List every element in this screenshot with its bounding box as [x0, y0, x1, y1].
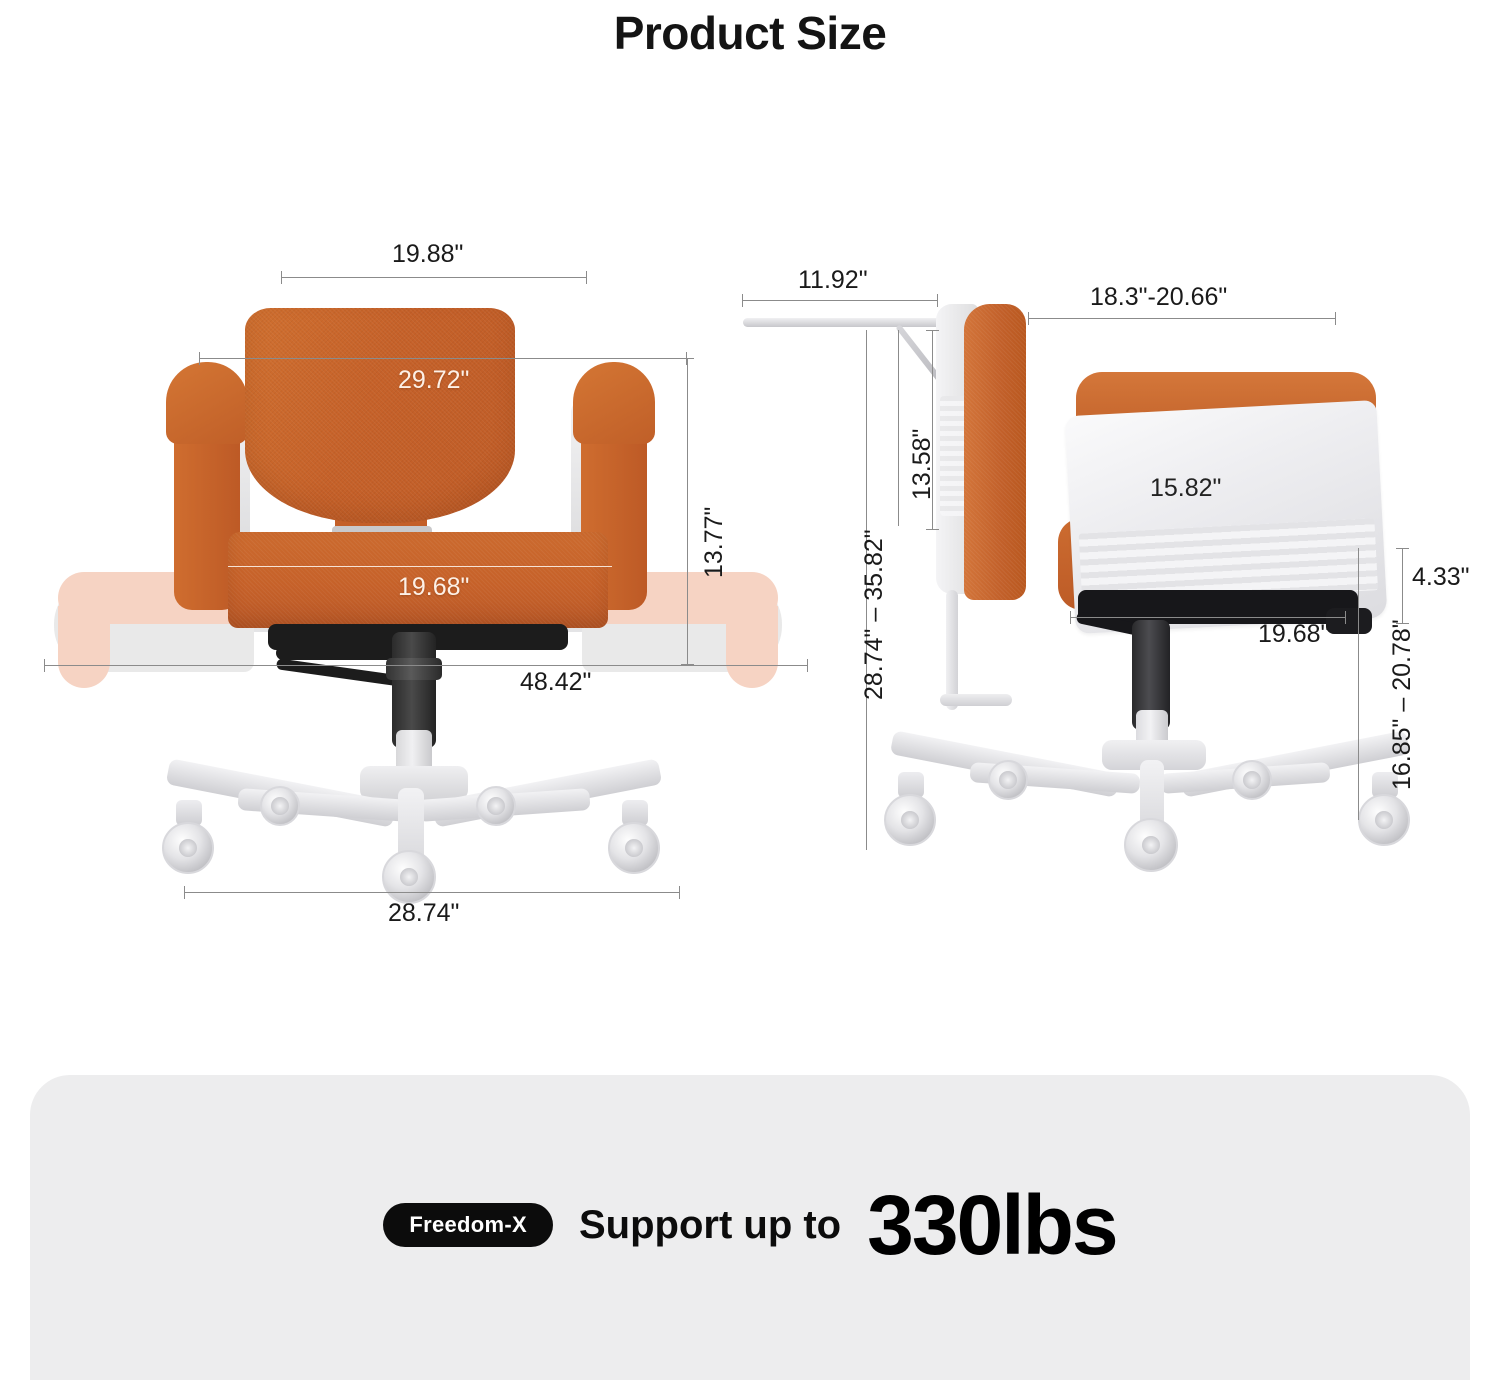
dim-label-seat-width: 19.68"	[398, 573, 469, 602]
dim-line-seat-height	[1358, 548, 1359, 820]
backrest-post-foot	[940, 694, 1012, 706]
dim-label-backrest-height: 13.77"	[700, 507, 729, 578]
capacity-banner-row: Freedom-X Support up to 330lbs	[30, 1183, 1470, 1267]
dim-line-overall-width	[199, 358, 687, 359]
backrest-cushion-side	[964, 304, 1026, 600]
caster-center-front	[382, 850, 436, 904]
dim-line-backrest-height-side-ref	[898, 330, 899, 526]
diagram-stage: 19.88" 29.72" 19.68" 48.42" 28.74" 13.77…	[0, 0, 1500, 1060]
tension-knob	[1326, 608, 1372, 634]
dim-label-armrest-depth: 15.82"	[1150, 474, 1221, 503]
dim-label-overall-height: 28.74" – 35.82"	[860, 529, 889, 700]
dim-label-tray-depth: 11.92"	[798, 266, 868, 295]
armrest-pad-left	[166, 362, 248, 444]
dim-label-backrest-height-side: 13.58"	[908, 429, 937, 500]
dim-line-backrest-height	[687, 358, 688, 665]
headrest-tray-arm	[743, 318, 948, 327]
dim-label-backrest-width: 19.88"	[392, 240, 463, 269]
dim-line-seat-depth-range	[1028, 318, 1336, 319]
dim-label-overall-width: 29.72"	[398, 366, 469, 395]
dim-label-base-width: 28.74"	[388, 899, 459, 928]
capacity-banner: Freedom-X Support up to 330lbs	[30, 1075, 1470, 1380]
dim-line-base-width	[184, 892, 680, 893]
caster-far-right	[608, 822, 660, 874]
height-lever	[276, 646, 396, 660]
gas-cylinder-ring	[386, 658, 442, 680]
weight-capacity-value: 330lbs	[867, 1183, 1117, 1267]
dim-line-arm-span	[44, 665, 808, 666]
dim-line-armrest-rise	[1402, 548, 1403, 624]
caster-side-mid-left	[988, 760, 1028, 800]
dim-label-arm-span: 48.42"	[520, 668, 591, 697]
dim-label-seat-height: 16.85" – 20.78"	[1388, 619, 1417, 790]
backrest-cushion	[245, 308, 515, 523]
support-label: Support up to	[579, 1203, 841, 1248]
side-view-chair	[740, 290, 1440, 890]
caster-side-far-left	[884, 794, 936, 846]
dim-line-backrest-width	[281, 277, 587, 278]
caster-mid-right	[476, 786, 516, 826]
dim-line-seat-depth	[1070, 617, 1346, 618]
dim-line-tray-depth	[742, 300, 938, 301]
caster-side-center-front	[1124, 818, 1178, 872]
armrest-pad-right	[573, 362, 655, 444]
backrest-support-post	[946, 590, 958, 710]
caster-side-far-right	[1358, 794, 1410, 846]
caster-far-left	[162, 822, 214, 874]
caster-side-mid-right	[1232, 760, 1272, 800]
dim-label-armrest-rise: 4.33"	[1412, 563, 1470, 592]
brand-badge: Freedom-X	[383, 1203, 553, 1247]
dim-label-seat-depth: 19.68"	[1258, 620, 1329, 649]
caster-mid-left	[260, 786, 300, 826]
dim-label-seat-depth-range: 18.3"-20.66"	[1090, 283, 1227, 312]
dim-line-seat-width	[228, 566, 612, 567]
